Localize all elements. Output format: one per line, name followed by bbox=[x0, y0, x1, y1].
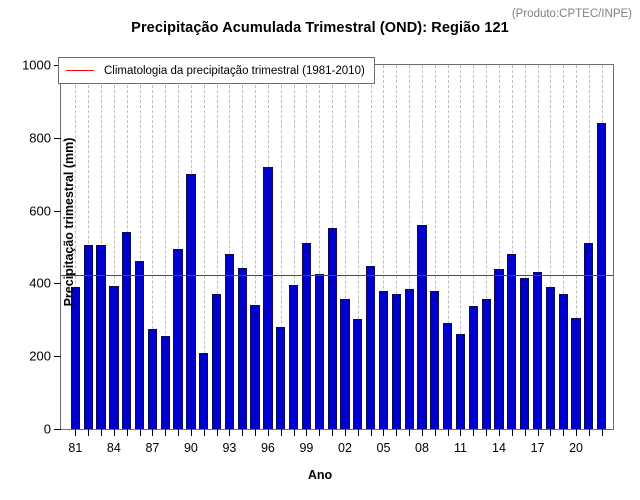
x-tick bbox=[204, 429, 205, 436]
x-tick bbox=[371, 429, 372, 436]
bar-93 bbox=[225, 254, 234, 429]
x-tick bbox=[486, 429, 487, 436]
y-tick-label: 600 bbox=[29, 203, 51, 218]
x-tick bbox=[332, 429, 333, 436]
bar-12 bbox=[469, 306, 478, 429]
bar-16 bbox=[520, 278, 529, 429]
x-tick bbox=[460, 429, 461, 436]
x-tick bbox=[576, 429, 577, 436]
x-tick bbox=[88, 429, 89, 436]
chart-root: Precipitação Acumulada Trimestral (OND):… bbox=[0, 0, 640, 500]
x-tick-label: 96 bbox=[261, 441, 275, 455]
x-tick-label: 11 bbox=[454, 441, 467, 455]
bar-13 bbox=[482, 299, 491, 429]
legend: Climatologia da precipitação trimestral … bbox=[58, 57, 375, 84]
x-tick bbox=[473, 429, 474, 436]
bar-94 bbox=[238, 268, 247, 429]
y-tick-label: 0 bbox=[44, 422, 51, 437]
x-tick bbox=[396, 429, 397, 436]
x-tick bbox=[409, 429, 410, 436]
y-tick-label: 800 bbox=[29, 130, 51, 145]
bar-15 bbox=[507, 254, 516, 429]
bar-99 bbox=[302, 243, 311, 429]
x-tick-label: 90 bbox=[184, 441, 198, 455]
bar-20 bbox=[571, 318, 580, 429]
y-tick-label: 1000 bbox=[22, 58, 51, 73]
x-tick bbox=[165, 429, 166, 436]
x-tick-label: 87 bbox=[145, 441, 159, 455]
bar-17 bbox=[533, 272, 542, 429]
bar-84 bbox=[109, 286, 118, 429]
x-tick bbox=[191, 429, 192, 436]
legend-line-swatch-climatology bbox=[66, 70, 94, 71]
x-tick bbox=[114, 429, 115, 436]
bar-02 bbox=[340, 299, 349, 429]
x-tick bbox=[499, 429, 500, 436]
x-tick bbox=[178, 429, 179, 436]
y-tick-label: 200 bbox=[29, 349, 51, 364]
x-tick-label: 05 bbox=[377, 441, 391, 455]
bar-06 bbox=[392, 294, 401, 429]
bar-96 bbox=[263, 167, 272, 429]
page-title: Precipitação Acumulada Trimestral (OND):… bbox=[0, 20, 640, 36]
bar-82 bbox=[84, 245, 93, 429]
bar-91 bbox=[199, 353, 208, 429]
x-tick bbox=[306, 429, 307, 436]
x-tick bbox=[294, 429, 295, 436]
bar-90 bbox=[186, 174, 195, 429]
x-tick bbox=[563, 429, 564, 436]
y-tick bbox=[54, 356, 61, 357]
x-axis-title: Ano bbox=[0, 468, 640, 482]
bar-09 bbox=[430, 291, 439, 429]
x-tick-label: 93 bbox=[222, 441, 236, 455]
x-tick-label: 99 bbox=[299, 441, 313, 455]
x-tick bbox=[140, 429, 141, 436]
x-tick bbox=[255, 429, 256, 436]
x-tick bbox=[435, 429, 436, 436]
x-tick bbox=[101, 429, 102, 436]
x-tick bbox=[448, 429, 449, 436]
x-tick bbox=[345, 429, 346, 436]
x-tick bbox=[152, 429, 153, 436]
bar-87 bbox=[148, 329, 157, 429]
x-tick-label: 14 bbox=[492, 441, 506, 455]
x-tick bbox=[512, 429, 513, 436]
x-tick bbox=[525, 429, 526, 436]
x-tick bbox=[538, 429, 539, 436]
x-tick bbox=[242, 429, 243, 436]
x-tick bbox=[550, 429, 551, 436]
y-tick bbox=[54, 283, 61, 284]
bar-21 bbox=[584, 243, 593, 429]
x-tick-label: 20 bbox=[569, 441, 583, 455]
bar-08 bbox=[417, 225, 426, 429]
climatology-reference-line bbox=[61, 275, 613, 276]
legend-label-climatology: Climatologia da precipitação trimestral … bbox=[104, 65, 365, 77]
x-tick bbox=[383, 429, 384, 436]
x-tick-label: 17 bbox=[531, 441, 545, 455]
bar-88 bbox=[161, 336, 170, 429]
bar-86 bbox=[135, 261, 144, 429]
bar-19 bbox=[559, 294, 568, 429]
x-tick bbox=[217, 429, 218, 436]
bar-97 bbox=[276, 327, 285, 429]
plot-area: Precipitação trimestral (mm) 02004006008… bbox=[60, 64, 614, 430]
bar-07 bbox=[405, 289, 414, 429]
producer-annotation: (Produto:CPTEC/INPE) bbox=[512, 8, 632, 20]
y-tick bbox=[54, 211, 61, 212]
bar-11 bbox=[456, 334, 465, 429]
x-tick bbox=[229, 429, 230, 436]
x-tick bbox=[358, 429, 359, 436]
x-tick-label: 84 bbox=[107, 441, 121, 455]
x-tick bbox=[268, 429, 269, 436]
bar-10 bbox=[443, 323, 452, 429]
bar-83 bbox=[96, 245, 105, 429]
bar-05 bbox=[379, 291, 388, 429]
bar-18 bbox=[546, 287, 555, 429]
bar-04 bbox=[366, 266, 375, 429]
x-tick-label: 02 bbox=[338, 441, 352, 455]
bar-98 bbox=[289, 285, 298, 429]
bar-92 bbox=[212, 294, 221, 429]
bar-01 bbox=[328, 228, 337, 429]
y-axis-title: Precipitação trimestral (mm) bbox=[62, 32, 76, 412]
bar-95 bbox=[250, 305, 259, 429]
bar-85 bbox=[122, 232, 131, 429]
plot-inner bbox=[61, 65, 613, 429]
x-tick bbox=[127, 429, 128, 436]
x-tick bbox=[75, 429, 76, 436]
x-tick bbox=[281, 429, 282, 436]
x-tick bbox=[422, 429, 423, 436]
y-tick bbox=[54, 429, 61, 430]
y-tick bbox=[54, 138, 61, 139]
x-tick bbox=[589, 429, 590, 436]
bar-14 bbox=[494, 269, 503, 429]
bar-03 bbox=[353, 319, 362, 429]
x-tick-label: 81 bbox=[68, 441, 82, 455]
x-tick-label: 08 bbox=[415, 441, 429, 455]
x-tick bbox=[319, 429, 320, 436]
x-tick bbox=[602, 429, 603, 436]
bar-00 bbox=[315, 274, 324, 429]
y-tick-label: 400 bbox=[29, 276, 51, 291]
